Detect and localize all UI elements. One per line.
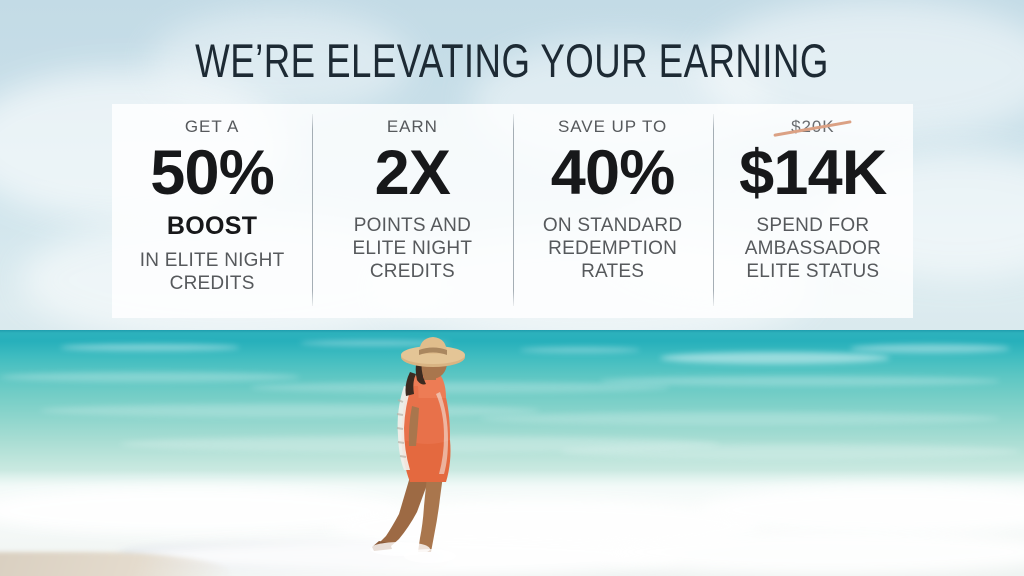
stat-description: POINTS AND ELITE NIGHT CREDITS [353,214,473,284]
stat-description-line: ELITE NIGHT [353,237,473,260]
stat-column-boost: GET A 50% BOOST IN ELITE NIGHT CREDITS [112,104,312,318]
stat-emphasis: BOOST [167,214,257,239]
stat-description-line: SPEND FOR [745,214,881,237]
stat-description: ON STANDARD REDEMPTION RATES [543,214,682,284]
stat-eyebrow: SAVE UP TO [558,118,667,135]
stat-value: 2X [375,142,451,205]
stat-value: $14K [739,142,887,205]
stat-description-line: ELITE STATUS [745,260,881,283]
stat-description-line: POINTS AND [353,214,473,237]
stat-eyebrow: EARN [387,118,438,135]
stat-value: 40% [551,142,675,205]
stat-description-line: RATES [543,260,682,283]
stat-description-line: CREDITS [140,272,285,295]
stat-description-line: CREDITS [353,260,473,283]
stat-eyebrow: GET A [185,118,239,135]
page-title: WE’RE ELEVATING YOUR EARNING [113,37,912,84]
stat-old-price: $20K [779,118,846,135]
stat-description-line: IN ELITE NIGHT [140,249,285,272]
stat-column-ambassador: $20K $14K SPEND FOR AMBASSADOR ELITE STA… [713,104,913,318]
stat-description-line: REDEMPTION [543,237,682,260]
stat-value: 50% [150,142,274,205]
promotional-banner: WE’RE ELEVATING YOUR EARNING GET A 50% B… [0,0,1024,576]
stat-description-line: AMBASSADOR [745,237,881,260]
stat-column-redemption: SAVE UP TO 40% ON STANDARD REDEMPTION RA… [513,104,713,318]
stat-description: SPEND FOR AMBASSADOR ELITE STATUS [745,214,881,284]
stats-panel: GET A 50% BOOST IN ELITE NIGHT CREDITS E… [112,104,913,318]
stat-description: IN ELITE NIGHT CREDITS [140,249,285,295]
stat-column-points: EARN 2X POINTS AND ELITE NIGHT CREDITS [312,104,512,318]
stat-description-line: ON STANDARD [543,214,682,237]
